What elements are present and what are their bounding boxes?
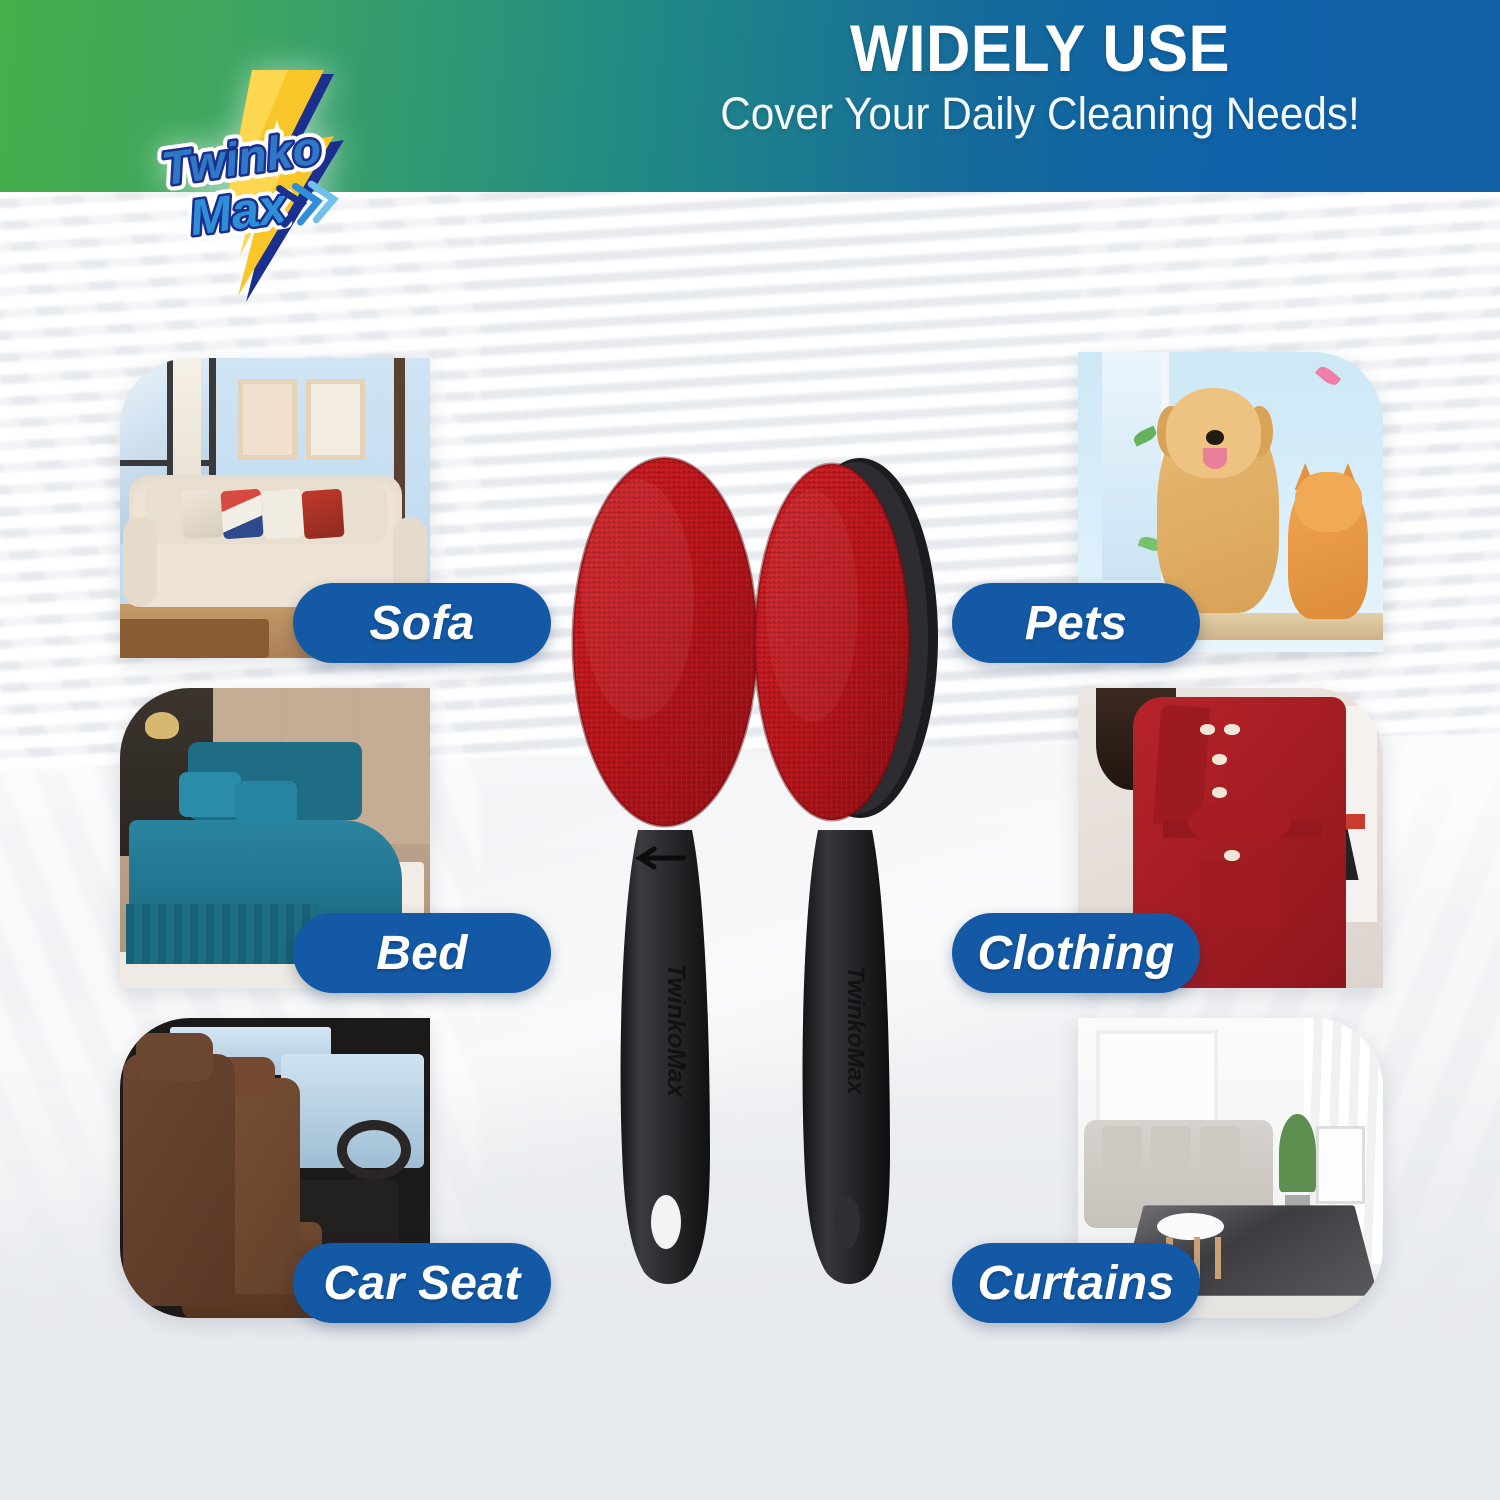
use-case-label-curtains[interactable]: Curtains (952, 1243, 1200, 1323)
use-case-label-text: Pets (1025, 596, 1128, 651)
header-title: WIDELY USE (631, 14, 1449, 83)
use-case-label-text: Car Seat (323, 1256, 520, 1311)
hang-hole-icon (651, 1195, 681, 1249)
handle-brand-text-left: TwinkoMax (662, 963, 690, 1098)
use-case-label-bed[interactable]: Bed (293, 913, 551, 993)
use-case-label-text: Bed (376, 926, 468, 981)
brush-right: TwinkoMax (755, 458, 938, 1284)
hang-hole-icon (834, 1196, 860, 1248)
use-case-label-car-seat[interactable]: Car Seat (293, 1243, 551, 1323)
header-subtitle: Cover Your Daily Cleaning Needs! (626, 87, 1453, 140)
use-case-label-sofa[interactable]: Sofa (293, 583, 551, 663)
lint-brush-pair: TwinkoMax TwinkoMax (560, 430, 950, 1290)
handle-brand-text-right: TwinkoMax (842, 966, 869, 1096)
use-case-label-text: Clothing (977, 926, 1174, 981)
header-text-block: WIDELY USE Cover Your Daily Cleaning Nee… (600, 14, 1480, 140)
brush-left: TwinkoMax (573, 458, 757, 1284)
use-case-label-text: Curtains (977, 1256, 1174, 1311)
twinko-max-logo: Twinko Twinko Twinko Max Max Max (148, 56, 398, 311)
use-case-label-pets[interactable]: Pets (952, 583, 1200, 663)
use-case-label-text: Sofa (369, 596, 474, 651)
use-case-label-clothing[interactable]: Clothing (952, 913, 1200, 993)
